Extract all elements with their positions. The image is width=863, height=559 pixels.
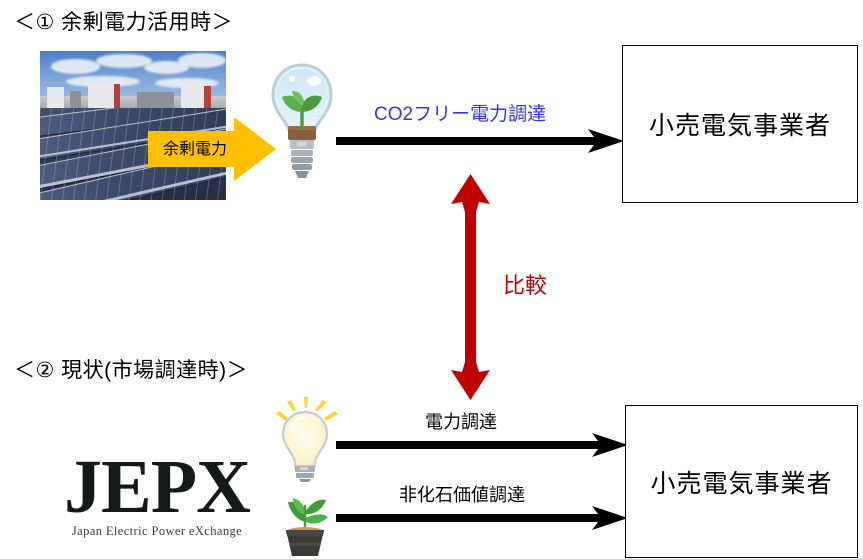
diagram-canvas: ＜① 余剰電力活用時＞ xyxy=(0,0,863,559)
section-two-heading: ＜② 現状(市場調達時)＞ xyxy=(14,354,248,384)
non-fossil-value-procurement-label: 非化石価値調達 xyxy=(399,481,525,507)
comparison-double-arrow-icon xyxy=(446,172,496,402)
jepx-wordmark: JEPX xyxy=(64,453,250,523)
non-fossil-value-procurement-arrow-icon xyxy=(336,505,630,531)
power-procurement-arrow-icon xyxy=(336,432,630,458)
building-shape xyxy=(114,84,120,110)
glowing-lightbulb-icon xyxy=(272,396,338,482)
cloud-shape xyxy=(51,59,99,74)
co2-free-procurement-arrow-icon xyxy=(336,128,626,154)
retailer-box-bottom-label: 小売電気事業者 xyxy=(650,464,832,500)
section-one-heading: ＜① 余剰電力活用時＞ xyxy=(14,6,233,36)
retailer-box-bottom: 小売電気事業者 xyxy=(625,405,858,558)
jepx-tagline: Japan Electric Power eXchange xyxy=(72,524,242,539)
co2-free-procurement-label: CO2フリー電力調達 xyxy=(374,99,546,126)
potted-plant-icon xyxy=(272,488,338,556)
retailer-box-top: 小売電気事業者 xyxy=(622,45,858,203)
retailer-box-top-label: 小売電気事業者 xyxy=(649,106,831,142)
power-procurement-label: 電力調達 xyxy=(425,408,497,434)
cloud-shape xyxy=(178,53,226,68)
comparison-label: 比較 xyxy=(503,268,547,300)
surplus-power-label: 余剰電力 xyxy=(152,135,238,159)
surplus-power-arrow-group: 余剰電力 xyxy=(148,115,278,183)
eco-lightbulb-with-plant-icon xyxy=(268,62,336,184)
jepx-logo: JEPX Japan Electric Power eXchange xyxy=(46,447,268,545)
